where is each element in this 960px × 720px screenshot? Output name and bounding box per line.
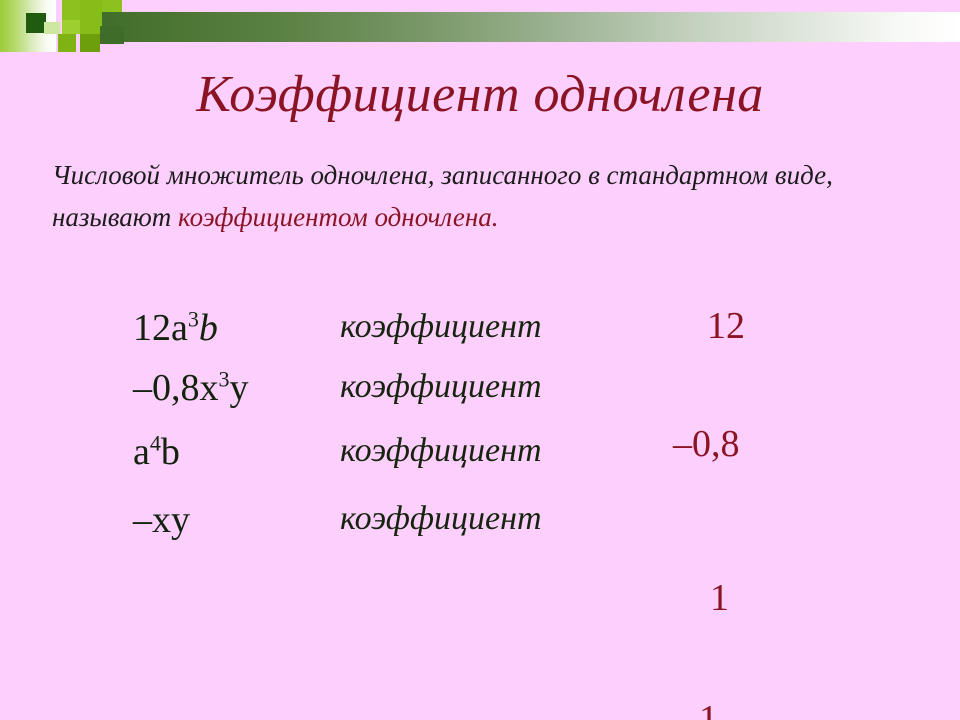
coefficient-value: 1 — [710, 576, 729, 620]
slide-canvas: Коэффициент одночлена Числовой множитель… — [0, 0, 960, 720]
monomial-expression: 12a3b — [133, 306, 218, 350]
coefficient-label: коэффициент — [340, 308, 542, 346]
expression-exponent: 3 — [219, 366, 230, 391]
expression-base: 12a — [133, 307, 188, 349]
monomial-expression: –0,8x3y — [133, 366, 249, 410]
example-row: –xy коэффициент –1 — [0, 492, 960, 554]
monomial-expression: –xy — [133, 498, 190, 542]
coefficient-label: коэффициент — [340, 368, 542, 406]
expression-tail: b — [161, 431, 180, 473]
expression-tail: b — [199, 307, 218, 349]
monomial-expression: a4b — [133, 430, 180, 474]
expression-base: –0,8x — [133, 367, 219, 409]
banner-square-green-5 — [80, 34, 100, 52]
banner-square-green-7 — [100, 26, 124, 44]
expression-base: –xy — [133, 499, 190, 541]
expression-exponent: 3 — [188, 306, 199, 331]
banner-square-green-6 — [102, 0, 122, 12]
example-row: –0,8x3y коэффициент –0,8 — [0, 360, 960, 422]
definition-accent-text: коэффициентом одночлена. — [178, 202, 498, 232]
expression-base: a — [133, 431, 150, 473]
banner-square-dark — [26, 13, 46, 33]
banner-square-green-1 — [62, 0, 82, 20]
banner-square-pale — [44, 22, 60, 34]
example-row: a4b коэффициент 1 — [0, 424, 960, 486]
expression-tail: y — [230, 367, 249, 409]
banner-square-green-3 — [58, 34, 76, 52]
expression-exponent: 4 — [150, 430, 161, 455]
coefficient-value: 12 — [707, 304, 745, 348]
banner-gradient-bar — [88, 12, 960, 42]
coefficient-label: коэффициент — [340, 432, 542, 470]
page-title: Коэффициент одночлена — [0, 66, 960, 123]
example-row: 12a3b коэффициент 12 — [0, 300, 960, 362]
coefficient-value: –1 — [680, 697, 718, 720]
banner-square-green-2 — [62, 20, 80, 34]
definition-paragraph: Числовой множитель одночлена, записанног… — [52, 155, 912, 239]
decorative-banner — [0, 0, 960, 52]
banner-square-green-4 — [80, 0, 102, 34]
coefficient-label: коэффициент — [340, 500, 542, 538]
examples-list: 12a3b коэффициент 12 –0,8x3y коэффициент… — [0, 300, 960, 560]
